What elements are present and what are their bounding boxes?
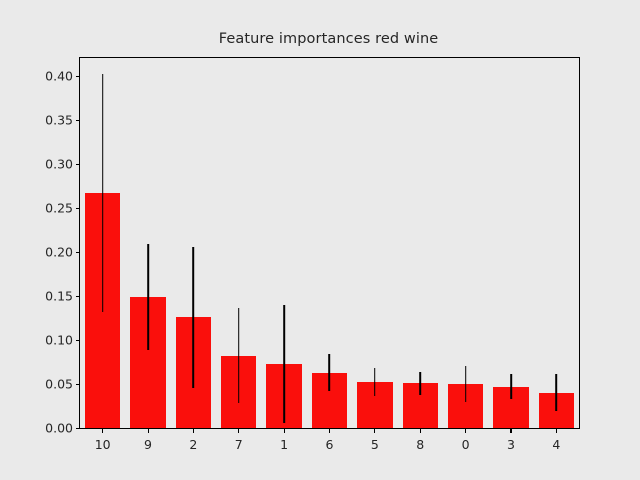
x-axis-tick	[420, 428, 421, 433]
error-bar	[419, 372, 421, 395]
plot-area	[80, 58, 579, 428]
bar-group	[266, 58, 301, 428]
x-axis-tick-label: 6	[326, 437, 334, 452]
y-axis-tick	[76, 76, 81, 77]
y-axis-tick-label: 0.15	[45, 289, 73, 304]
bar-group	[493, 58, 528, 428]
chart-title: Feature importances red wine	[79, 31, 578, 47]
error-bar	[102, 74, 104, 312]
bar-group	[539, 58, 574, 428]
error-bar	[465, 366, 467, 403]
x-axis-tick-label: 4	[552, 437, 560, 452]
y-axis-tick-label: 0.35	[45, 113, 73, 128]
error-bar	[510, 374, 512, 399]
x-axis-tick	[556, 428, 557, 433]
y-axis-tick-label: 0.40	[45, 69, 73, 84]
x-axis-tick	[465, 428, 466, 433]
y-axis-tick-label: 0.30	[45, 157, 73, 172]
error-bar	[283, 305, 285, 423]
x-axis-tick	[193, 428, 194, 433]
y-axis-tick	[76, 340, 81, 341]
x-axis-tick-label: 2	[189, 437, 197, 452]
error-bar	[556, 374, 558, 411]
bar-group	[448, 58, 483, 428]
x-axis-tick-label: 0	[462, 437, 470, 452]
matplotlib-figure: Feature importances red wine 0.000.050.1…	[0, 0, 640, 480]
y-axis-tick	[76, 252, 81, 253]
x-axis-tick	[238, 428, 239, 433]
y-axis-tick-label: 0.05	[45, 377, 73, 392]
x-axis-tick	[374, 428, 375, 433]
y-axis-tick	[76, 120, 81, 121]
y-axis-tick	[76, 208, 81, 209]
error-bar	[329, 354, 331, 391]
y-axis-tick	[76, 384, 81, 385]
bar-group	[357, 58, 392, 428]
y-axis-tick-label: 0.20	[45, 245, 73, 260]
y-axis-tick	[76, 164, 81, 165]
x-axis-tick-label: 9	[144, 437, 152, 452]
bar-group	[176, 58, 211, 428]
x-axis-tick-label: 3	[507, 437, 515, 452]
y-axis-tick-label: 0.00	[45, 421, 73, 436]
error-bar	[374, 368, 376, 396]
y-axis-tick-label: 0.25	[45, 201, 73, 216]
plot-axes: 0.000.050.100.150.200.250.300.350.401092…	[79, 57, 580, 429]
bar-group	[130, 58, 165, 428]
y-axis-tick	[76, 296, 81, 297]
x-axis-tick-label: 1	[280, 437, 288, 452]
x-axis-tick-label: 10	[95, 437, 111, 452]
bar-group	[221, 58, 256, 428]
bar-group	[85, 58, 120, 428]
error-bar	[147, 244, 149, 350]
y-axis-tick	[76, 428, 81, 429]
x-axis-tick	[284, 428, 285, 433]
error-bar	[193, 247, 195, 388]
y-axis-tick-label: 0.10	[45, 333, 73, 348]
x-axis-tick	[148, 428, 149, 433]
x-axis-tick	[329, 428, 330, 433]
error-bar	[238, 308, 240, 403]
bar-group	[403, 58, 438, 428]
x-axis-tick-label: 5	[371, 437, 379, 452]
x-axis-tick	[102, 428, 103, 433]
x-axis-tick-label: 7	[235, 437, 243, 452]
bar-group	[312, 58, 347, 428]
x-axis-tick-label: 8	[416, 437, 424, 452]
x-axis-tick	[510, 428, 511, 433]
